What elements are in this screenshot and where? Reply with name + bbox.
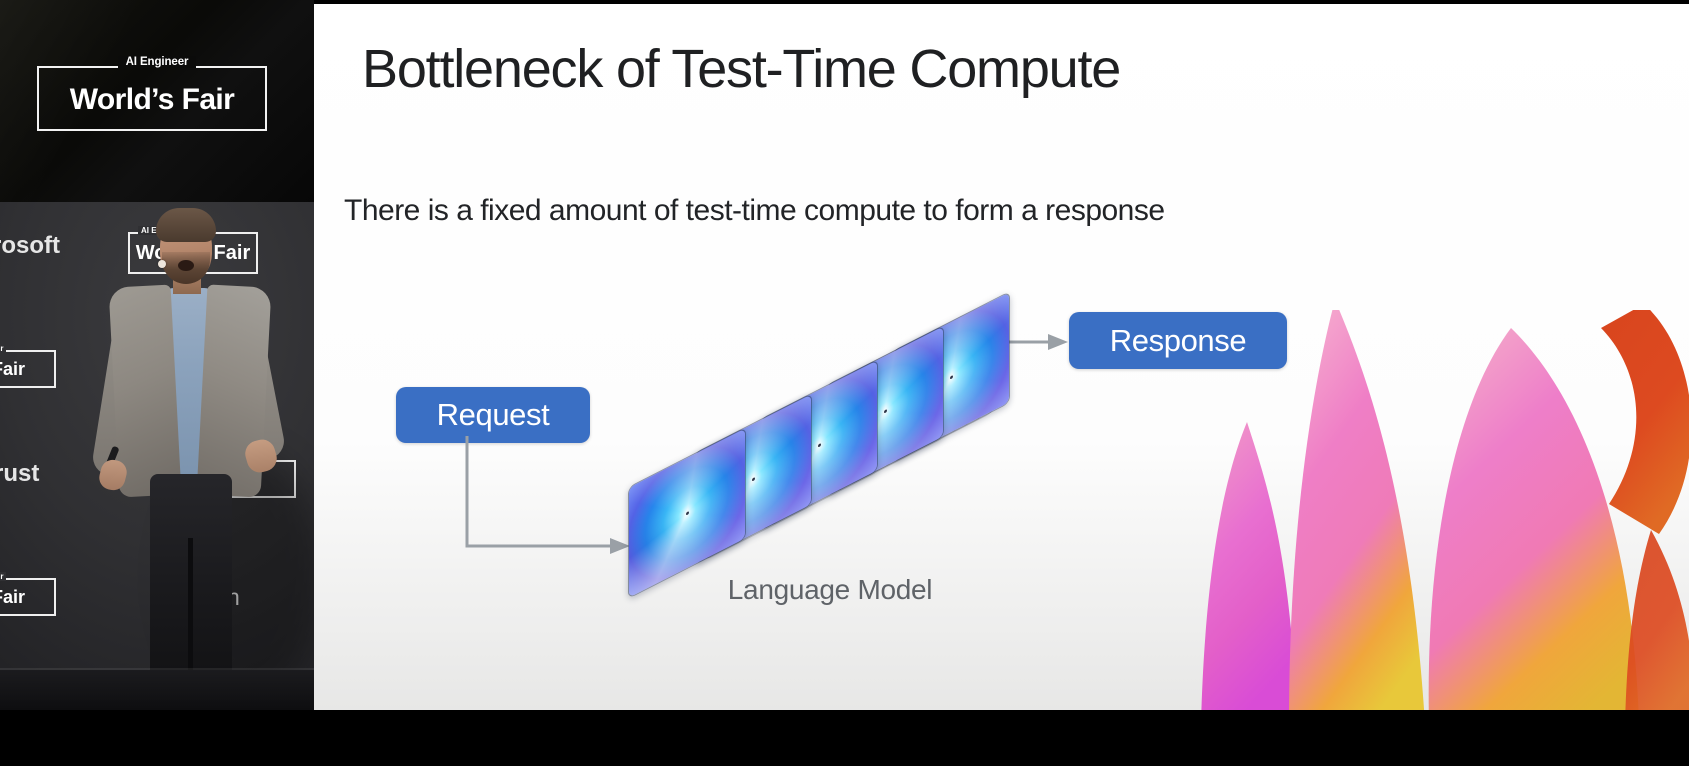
backdrop-box-text-2: s Fair: [0, 360, 25, 378]
presentation-slide: Bottleneck of Test-Time Compute There is…: [314, 4, 1689, 710]
page-title: Bottleneck of Test-Time Compute: [362, 40, 1120, 99]
backdrop-text-microsoft: rosoft: [0, 232, 60, 260]
stream-bottom-bar: [0, 710, 1689, 766]
backdrop-box-world-fair-4: AI Engineer s Fair: [0, 578, 56, 616]
logo-eyebrow-row: AI Engineer: [0, 56, 314, 68]
backdrop-text-trust: rust: [0, 460, 39, 488]
backdrop-box-text-4: s Fair: [0, 588, 25, 606]
stream-left-column: World’s Fair AI Engineer rosoft rust AI …: [0, 0, 314, 766]
event-logo-panel: World’s Fair AI Engineer: [0, 0, 314, 202]
petal-large-right: [1429, 328, 1639, 710]
backdrop-box-world-fair-2: AI Engineer s Fair: [0, 350, 56, 388]
gradient-petals-graphic: [1169, 310, 1689, 710]
petal-right-sliver: [1625, 530, 1689, 710]
presenter-headset-mic: [158, 260, 166, 268]
logo-eyebrow-text: AI Engineer: [118, 56, 197, 68]
world-fair-logo-frame: World’s Fair: [37, 66, 267, 131]
presenter-mouth: [178, 260, 194, 271]
presenter-hair: [156, 208, 216, 242]
world-fair-logo-text: World’s Fair: [70, 85, 235, 115]
language-model-caption: Language Model: [680, 574, 980, 606]
slide-subtitle: There is a fixed amount of test-time com…: [344, 194, 1165, 228]
backdrop-box-eyebrow-4: AI Engineer: [0, 572, 6, 581]
presenter-pants-split: [188, 538, 193, 684]
petal-small-left: [1201, 422, 1297, 710]
petal-red-arc: [1601, 310, 1689, 534]
request-badge-label: Request: [437, 397, 550, 433]
presenter-figure: [88, 208, 298, 708]
speaker-webcam-feed: rosoft rust AI Engineer World’s Fair AI …: [0, 202, 314, 766]
broadcast-stage: World’s Fair AI Engineer rosoft rust AI …: [0, 0, 1689, 766]
language-model-card-stack: [604, 299, 1204, 569]
backdrop-box-eyebrow-2: AI Engineer: [0, 344, 6, 353]
petal-middle: [1289, 310, 1425, 710]
